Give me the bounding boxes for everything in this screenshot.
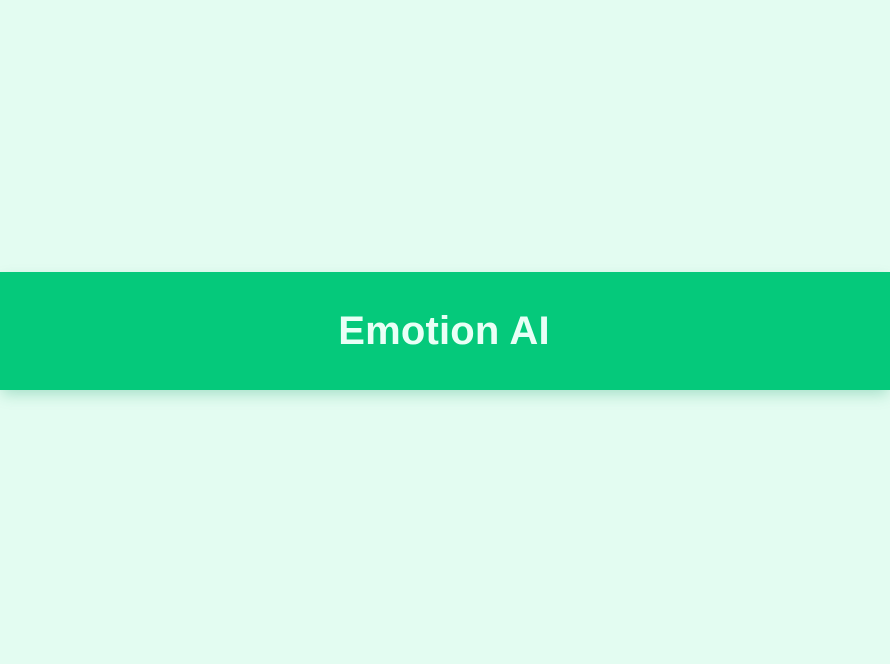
page-title: Emotion AI: [338, 311, 550, 351]
emotion-ai-banner: Emotion AI: [0, 272, 890, 390]
page-canvas: Emotion AI: [0, 0, 890, 664]
